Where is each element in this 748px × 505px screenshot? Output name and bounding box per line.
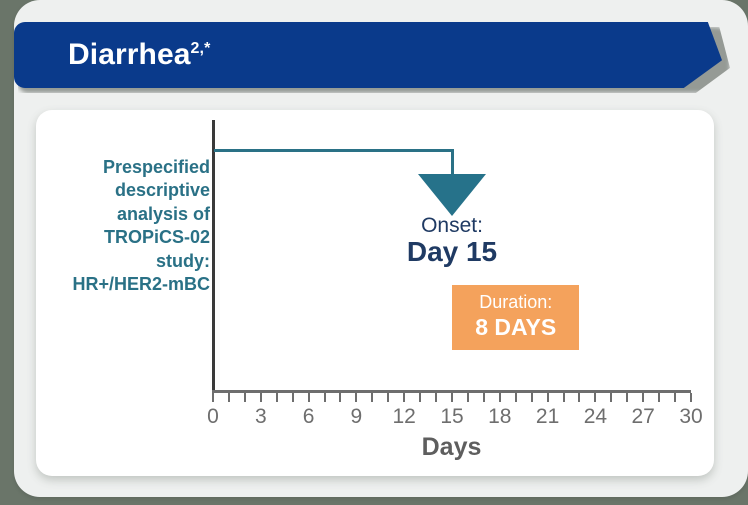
x-axis-tick xyxy=(610,393,612,402)
x-axis-tick xyxy=(499,393,501,402)
y-axis-line xyxy=(212,120,215,392)
x-axis-tick xyxy=(403,393,405,402)
study-description-label: Prespecified descriptive analysis of TRO… xyxy=(62,156,210,296)
onset-arrow-icon xyxy=(418,174,486,216)
onset-value: Day 15 xyxy=(352,236,552,268)
x-axis-tick-label: 30 xyxy=(671,406,711,427)
x-axis-tick xyxy=(387,393,389,402)
header-banner: Diarrhea2,* xyxy=(14,22,730,88)
onset-label: Onset: xyxy=(352,214,552,238)
duration-value: 8 DAYS xyxy=(475,314,556,342)
x-axis-tick-label: 21 xyxy=(528,406,568,427)
x-axis-tick xyxy=(355,393,357,402)
x-axis-tick xyxy=(483,393,485,402)
x-axis-tick xyxy=(658,393,660,402)
x-axis-tick-label: 24 xyxy=(575,406,615,427)
x-axis-tick xyxy=(276,393,278,402)
x-axis-tick xyxy=(451,393,453,402)
x-axis-tick xyxy=(435,393,437,402)
x-axis-tick xyxy=(244,393,246,402)
screenshot-root: Diarrhea2,* Prespecified descriptive ana… xyxy=(0,0,748,505)
x-axis-tick xyxy=(339,393,341,402)
x-axis-tick xyxy=(563,393,565,402)
x-axis-tick xyxy=(690,393,692,402)
x-axis-tick xyxy=(260,393,262,402)
onset-connector-vertical xyxy=(451,149,454,177)
duration-label: Duration: xyxy=(479,292,552,314)
x-axis-tick xyxy=(308,393,310,402)
x-axis-tick xyxy=(228,393,230,402)
page-title: Diarrhea2,* xyxy=(68,40,210,70)
x-axis-tick xyxy=(578,393,580,402)
duration-box: Duration: 8 DAYS xyxy=(452,285,579,350)
x-axis-tick-label: 0 xyxy=(193,406,233,427)
onset-connector-horizontal xyxy=(214,149,454,152)
x-axis-tick xyxy=(674,393,676,402)
x-axis-title: Days xyxy=(212,435,691,460)
x-axis-tick xyxy=(547,393,549,402)
x-axis-tick xyxy=(419,393,421,402)
x-axis-tick xyxy=(531,393,533,402)
chart-card: Prespecified descriptive analysis of TRO… xyxy=(36,110,714,476)
page-title-text: Diarrhea xyxy=(68,38,191,71)
x-axis-tick-label: 27 xyxy=(623,406,663,427)
timeline-chart: Prespecified descriptive analysis of TRO… xyxy=(36,110,714,476)
x-axis-tick xyxy=(467,393,469,402)
x-axis-tick xyxy=(212,393,214,402)
x-axis-tick-label: 6 xyxy=(289,406,329,427)
x-axis-tick-label: 12 xyxy=(384,406,424,427)
x-axis-tick xyxy=(292,393,294,402)
x-axis-tick-label: 3 xyxy=(241,406,281,427)
x-axis-tick xyxy=(626,393,628,402)
x-axis-tick-label: 18 xyxy=(480,406,520,427)
page-title-superscript: 2,* xyxy=(191,40,211,57)
x-axis-tick xyxy=(324,393,326,402)
x-axis-tick-label: 9 xyxy=(336,406,376,427)
x-axis-tick xyxy=(515,393,517,402)
x-axis-tick xyxy=(642,393,644,402)
banner-ribbon: Diarrhea2,* xyxy=(14,22,722,88)
x-axis-tick-label: 15 xyxy=(432,406,472,427)
x-axis-tick xyxy=(371,393,373,402)
x-axis-tick xyxy=(594,393,596,402)
